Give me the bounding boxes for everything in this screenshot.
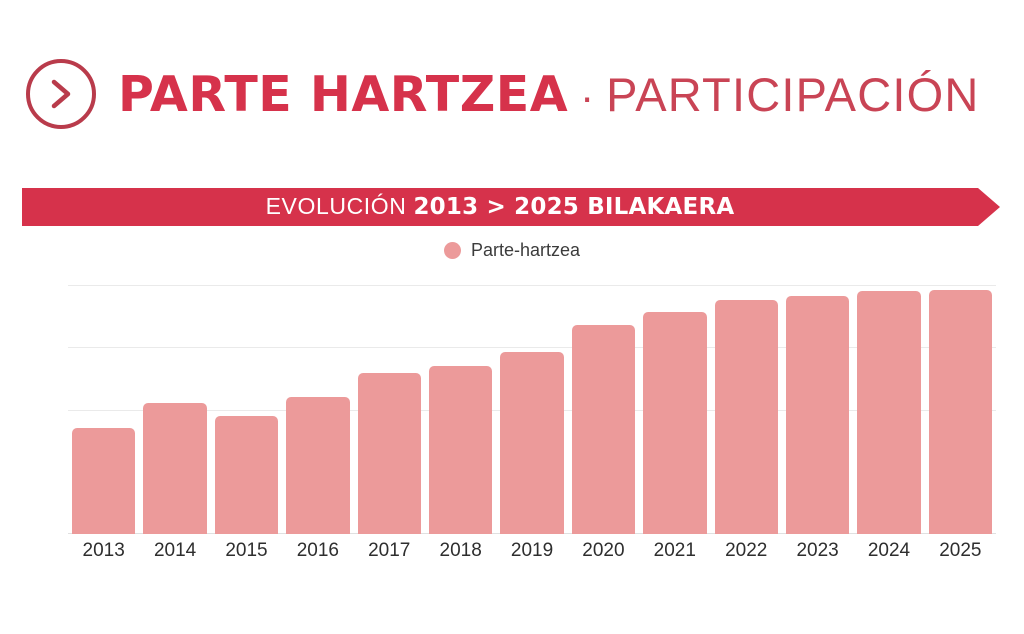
page-header: PARTE HARTZEA · PARTICIPACIÓN bbox=[26, 48, 980, 140]
chart-x-tick-label-2014: 2014 bbox=[139, 540, 210, 562]
chart-bar-2024[interactable] bbox=[857, 291, 920, 534]
page-title-basque: PARTE HARTZEA bbox=[118, 70, 568, 119]
chart-bar-2015[interactable] bbox=[215, 416, 278, 534]
chart-bar-slot bbox=[354, 285, 425, 534]
chart-bar-slot bbox=[782, 285, 853, 534]
chart-bar-2025[interactable] bbox=[929, 290, 992, 534]
chart-x-axis-labels: 2013201420152016201720182019202020212022… bbox=[68, 540, 996, 562]
chart-x-tick-label-2024: 2024 bbox=[853, 540, 924, 562]
chart-bar-slot bbox=[639, 285, 710, 534]
chart-bar-2019[interactable] bbox=[500, 352, 563, 534]
chart-bar-slot bbox=[68, 285, 139, 534]
chart-x-tick-label-2017: 2017 bbox=[354, 540, 425, 562]
chart-bar-2022[interactable] bbox=[715, 300, 778, 534]
section-banner: EVOLUCIÓN 2013 > 2025 BILAKAERA bbox=[22, 188, 1000, 226]
chart-x-tick-label-2023: 2023 bbox=[782, 540, 853, 562]
chart-bar-slot bbox=[711, 285, 782, 534]
chart-bar-slot bbox=[925, 285, 996, 534]
chart-bar-2021[interactable] bbox=[643, 312, 706, 534]
chart-bar-slot bbox=[853, 285, 924, 534]
chart-x-tick-label-2016: 2016 bbox=[282, 540, 353, 562]
chart-plot-area: 050100150200 bbox=[68, 285, 996, 534]
chart-x-tick-label-2020: 2020 bbox=[568, 540, 639, 562]
legend-marker-parte-hartzea bbox=[444, 242, 461, 259]
chart-bar-slot bbox=[282, 285, 353, 534]
chart-bar-slot bbox=[496, 285, 567, 534]
page-title-spanish: PARTICIPACIÓN bbox=[606, 71, 979, 118]
page-title-separator: · bbox=[568, 76, 606, 118]
chart-x-tick-label-2018: 2018 bbox=[425, 540, 496, 562]
chart-bar-2020[interactable] bbox=[572, 325, 635, 534]
section-banner-text: EVOLUCIÓN 2013 > 2025 BILAKAERA bbox=[266, 195, 757, 219]
chart-bar-2016[interactable] bbox=[286, 397, 349, 534]
chart-bar-2017[interactable] bbox=[358, 373, 421, 534]
page-title: PARTE HARTZEA · PARTICIPACIÓN bbox=[118, 70, 980, 119]
chart-bar-2023[interactable] bbox=[786, 296, 849, 534]
bar-chart: 050100150200 201320142015201620172018201… bbox=[0, 272, 1024, 564]
chart-x-tick-label-2022: 2022 bbox=[711, 540, 782, 562]
legend-label-parte-hartzea: Parte-hartzea bbox=[471, 240, 580, 261]
chart-x-tick-label-2019: 2019 bbox=[496, 540, 567, 562]
section-banner-text-light: EVOLUCIÓN bbox=[266, 193, 414, 219]
chart-bar-slot bbox=[211, 285, 282, 534]
chart-x-tick-label-2025: 2025 bbox=[925, 540, 996, 562]
chart-bar-2018[interactable] bbox=[429, 366, 492, 534]
chart-legend: Parte-hartzea bbox=[0, 240, 1024, 261]
chevron-right-circle-icon bbox=[26, 59, 96, 129]
section-banner-text-bold: 2013 > 2025 BILAKAERA bbox=[413, 194, 734, 220]
chart-bar-slot bbox=[425, 285, 496, 534]
chart-x-tick-label-2015: 2015 bbox=[211, 540, 282, 562]
chart-bar-2013[interactable] bbox=[72, 428, 135, 534]
chart-bar-slot bbox=[568, 285, 639, 534]
chart-bar-slot bbox=[139, 285, 210, 534]
chart-x-tick-label-2013: 2013 bbox=[68, 540, 139, 562]
chart-x-tick-label-2021: 2021 bbox=[639, 540, 710, 562]
chart-bar-2014[interactable] bbox=[143, 403, 206, 534]
chart-bars bbox=[68, 285, 996, 534]
